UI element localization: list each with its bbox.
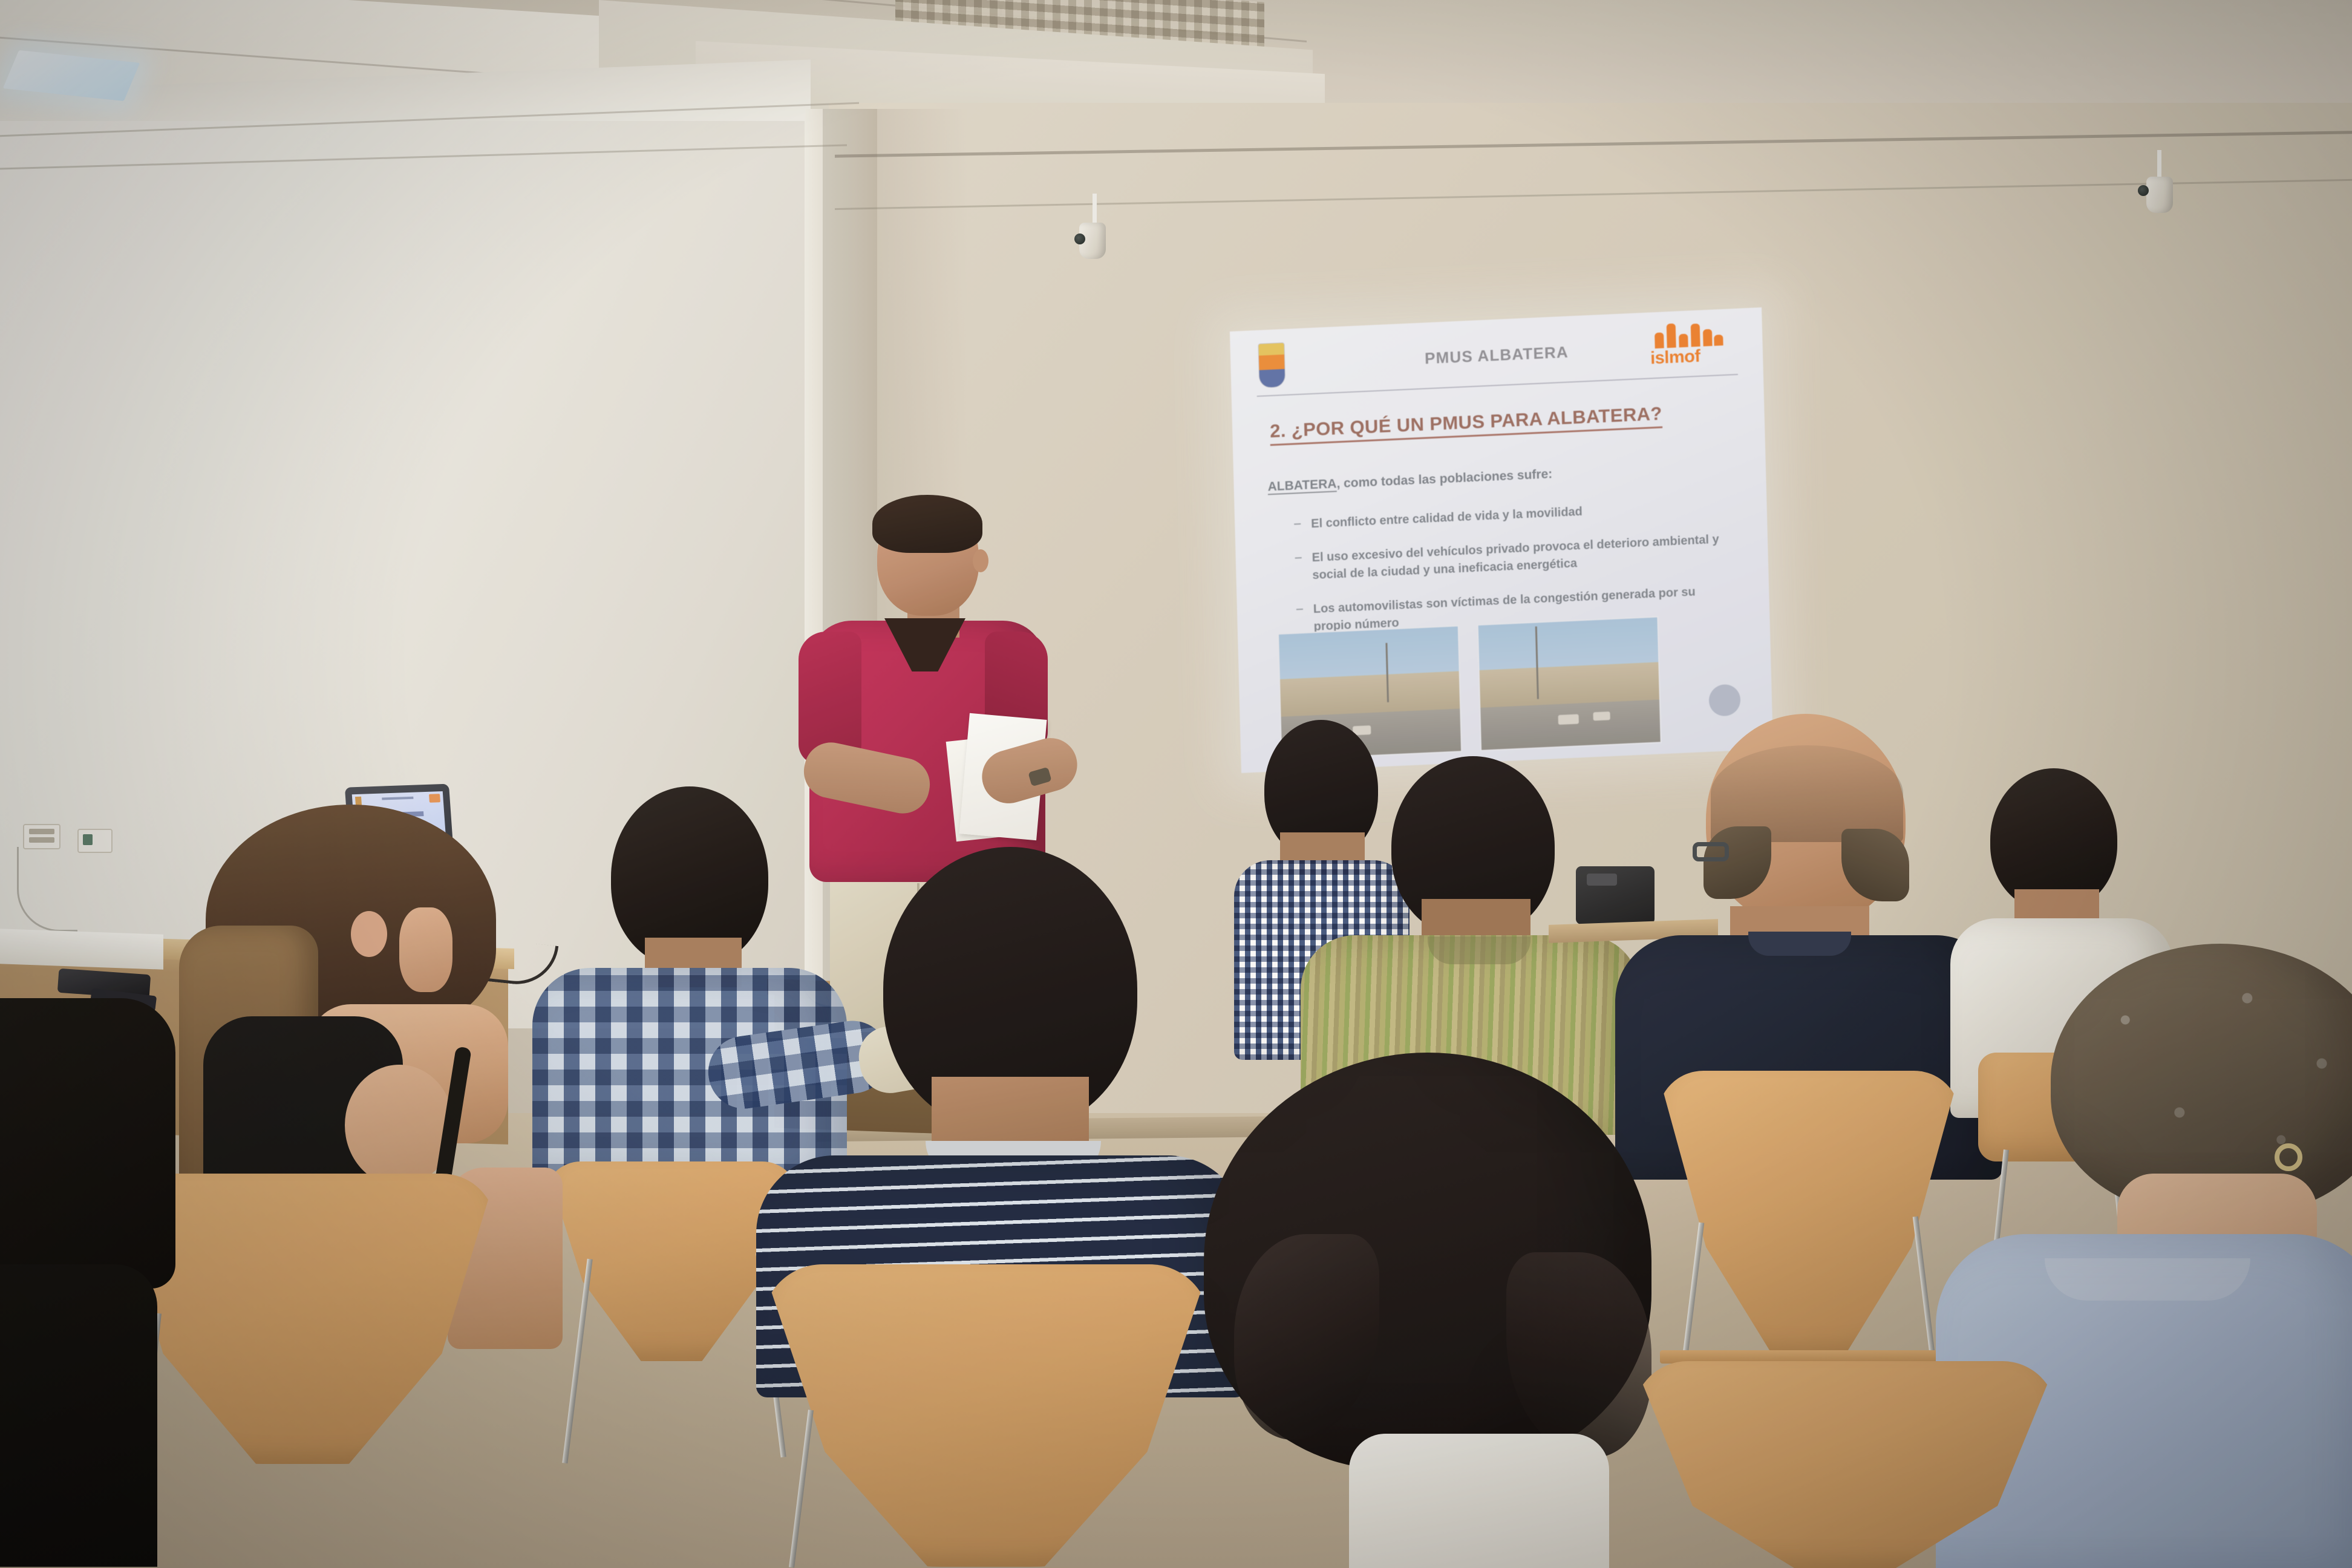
slide-bullet: El conflicto entre calidad de vida y la …	[1290, 497, 1731, 534]
slide-lead-rest: , como todas las poblaciones sufre:	[1336, 467, 1552, 491]
top-neckline	[2045, 1258, 2250, 1301]
spotlight-lens	[1074, 234, 1085, 244]
glasses-icon	[1693, 842, 1729, 861]
logo-wordmark: islmof	[1650, 347, 1700, 369]
white-top	[1349, 1434, 1609, 1568]
wall-socket	[23, 824, 60, 849]
slide-decorative-dot	[1708, 684, 1740, 716]
meeting-room-photo: PMUS ALBATERA islmof 2. ¿POR QUÉ UN PMUS…	[0, 0, 2352, 1568]
face-cheek	[399, 907, 452, 992]
presenter-ear	[973, 549, 988, 572]
person-woman-curly-blonde-right	[2008, 944, 2352, 1568]
islmof-logo: islmof	[1646, 317, 1732, 376]
ear	[351, 911, 387, 957]
slide-bullet: El uso excesivo del vehículos privado pr…	[1291, 531, 1732, 585]
hoop-earring-icon	[2275, 1143, 2302, 1171]
person-black-far-left	[0, 998, 194, 1568]
presenter-hair	[872, 495, 982, 553]
slide-lead-strong: ALBATERA	[1267, 477, 1336, 495]
shirt-collar	[1428, 936, 1530, 964]
spotlight-lens	[2138, 185, 2149, 196]
dark-clothing	[0, 1264, 157, 1567]
person-woman-dark-hair-center	[1168, 1053, 1700, 1568]
dark-clothing	[0, 998, 175, 1289]
logo-mark-icon	[1655, 318, 1723, 348]
polo-collar	[1748, 932, 1851, 956]
laptop-logo-icon	[429, 794, 440, 803]
track-spotlight-icon	[2146, 177, 2173, 213]
projected-slide: PMUS ALBATERA islmof 2. ¿POR QUÉ UN PMUS…	[1230, 307, 1773, 773]
slide-lead-line: ALBATERA, como todas las poblaciones suf…	[1267, 467, 1552, 494]
slide-title: 2. ¿POR QUÉ UN PMUS PARA ALBATERA?	[1270, 403, 1662, 442]
